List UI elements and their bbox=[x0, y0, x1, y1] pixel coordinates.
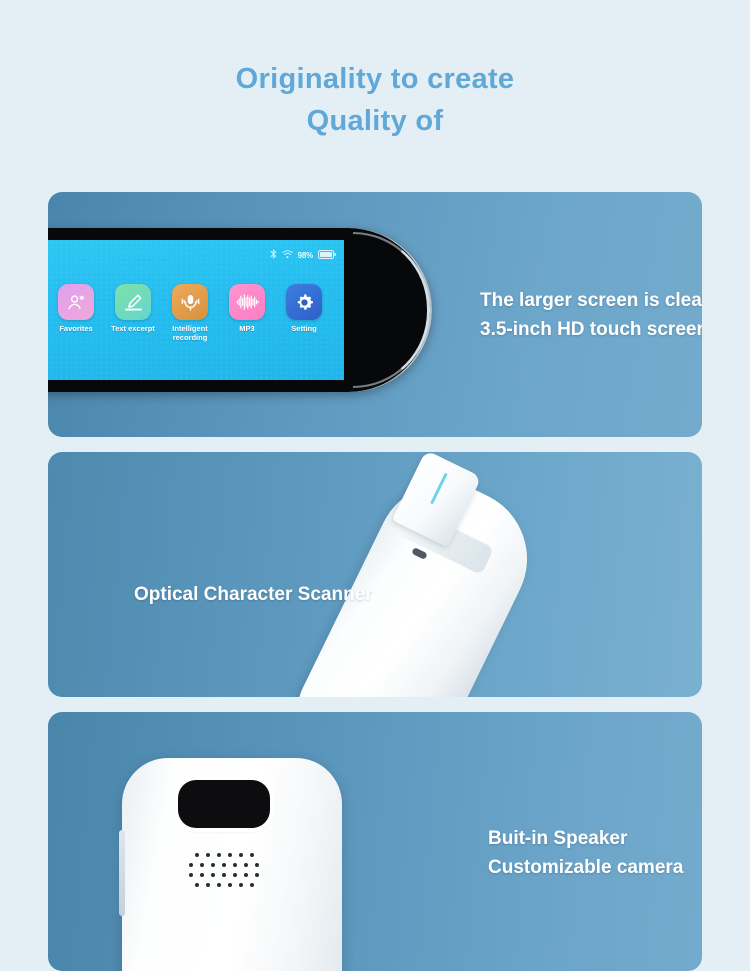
page-title-line-1: Originality to create bbox=[0, 58, 750, 100]
feature-text-speaker-line-1: Buit-in Speaker bbox=[488, 824, 683, 853]
app-item-intelligent-recording[interactable]: Intelligent recording bbox=[167, 284, 213, 343]
app-label-favorites: Favorites bbox=[53, 324, 99, 333]
page-title: Originality to create Quality of bbox=[0, 0, 750, 142]
feature-text-speaker-line-2: Customizable camera bbox=[488, 853, 683, 882]
status-bar: 98% bbox=[270, 246, 336, 264]
feature-text-screen-line-2: 3.5-inch HD touch screen bbox=[480, 315, 702, 344]
waveform-icon bbox=[229, 284, 265, 320]
app-item-setting[interactable]: Setting bbox=[281, 284, 327, 343]
app-item-text-excerpt[interactable]: Text excerpt bbox=[110, 284, 156, 343]
wifi-icon bbox=[282, 246, 293, 264]
app-item-mp3[interactable]: MP3 bbox=[224, 284, 270, 343]
app-item-favorites[interactable]: Favorites bbox=[53, 284, 99, 343]
device-back-image bbox=[122, 758, 342, 971]
gear-icon bbox=[286, 284, 322, 320]
feature-card-scanner: Optical Character Scanner bbox=[48, 452, 702, 697]
feature-text-scanner: Optical Character Scanner bbox=[134, 580, 373, 609]
app-label-intelligent-recording: Intelligent recording bbox=[167, 324, 213, 343]
app-label-setting: Setting bbox=[281, 324, 327, 333]
person-star-icon bbox=[58, 284, 94, 320]
pen-underline-icon bbox=[115, 284, 151, 320]
page-title-line-2: Quality of bbox=[0, 100, 750, 142]
feature-text-screen: The larger screen is clearer 3.5-inch HD… bbox=[480, 286, 702, 345]
feature-card-speaker: Buit-in Speaker Customizable camera bbox=[48, 712, 702, 971]
battery-percent-label: 98% bbox=[298, 251, 313, 260]
camera-module bbox=[178, 780, 270, 828]
app-label-mp3: MP3 bbox=[224, 324, 270, 333]
speaker-grille bbox=[174, 853, 274, 903]
feature-text-screen-line-1: The larger screen is clearer bbox=[480, 286, 702, 315]
app-label-text-excerpt: Text excerpt bbox=[110, 324, 156, 333]
app-grid: Favorites Text excerpt bbox=[53, 284, 336, 343]
device-front-image: 98% bbox=[48, 228, 432, 392]
feature-card-screen: 98% bbox=[48, 192, 702, 437]
bluetooth-icon bbox=[270, 246, 277, 264]
side-button bbox=[119, 830, 125, 916]
feature-text-speaker: Buit-in Speaker Customizable camera bbox=[488, 824, 683, 883]
battery-icon bbox=[318, 246, 336, 264]
device-screen: 98% bbox=[48, 240, 344, 380]
feature-text-scanner-line-1: Optical Character Scanner bbox=[134, 580, 373, 609]
scanner-pen-image bbox=[392, 452, 702, 697]
device-back-body bbox=[122, 758, 342, 971]
microphone-icon bbox=[172, 284, 208, 320]
